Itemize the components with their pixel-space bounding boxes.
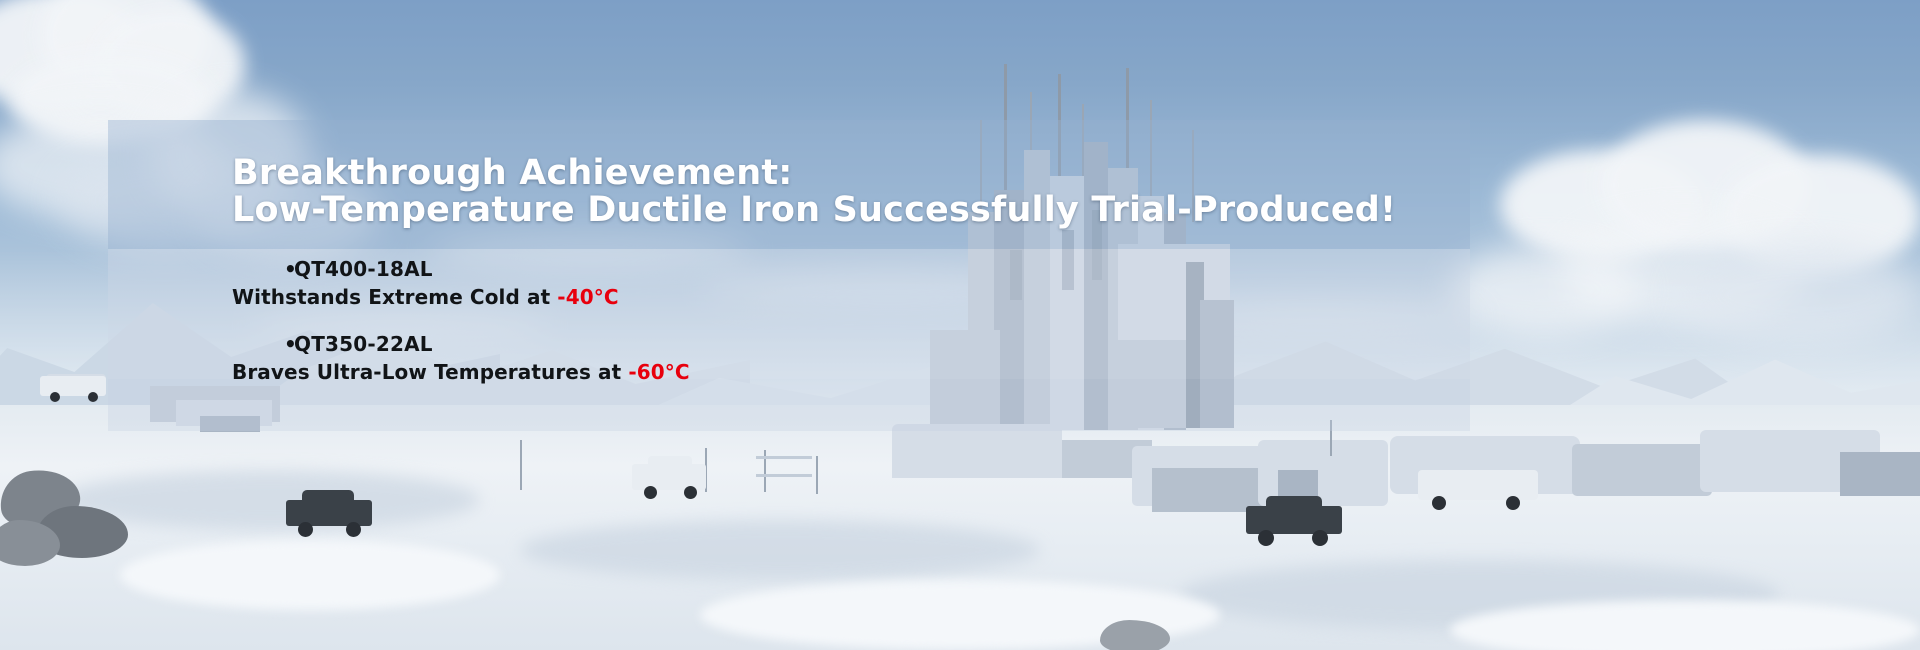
description-text: Braves Ultra-Low Temperatures at	[232, 360, 628, 384]
snow-shadow	[520, 520, 1040, 580]
bullet-icon: •	[232, 256, 294, 282]
temperature-value: -40°C	[557, 285, 618, 309]
bullet-icon: •	[232, 331, 294, 357]
wheel	[1432, 496, 1446, 510]
building	[1840, 452, 1920, 496]
headline-line-1: Breakthrough Achievement:	[232, 153, 793, 193]
vehicle	[302, 490, 354, 504]
wheel	[298, 522, 313, 537]
page-title: Breakthrough Achievement: Low-Temperatur…	[232, 155, 1472, 229]
building	[1572, 444, 1712, 496]
grade-row: • QT400-18AL	[232, 256, 1432, 282]
frame-structure	[756, 474, 812, 477]
grade-description: Braves Ultra-Low Temperatures at -60°C	[232, 357, 1432, 387]
headline-line-2: Low-Temperature Ductile Iron Successfull…	[232, 192, 1472, 229]
snow-drift	[120, 540, 500, 610]
description-text: Withstands Extreme Cold at	[232, 285, 557, 309]
snow-shadow	[60, 470, 480, 530]
feature-list: • QT400-18AL Withstands Extreme Cold at …	[232, 256, 1432, 406]
wheel	[88, 392, 98, 402]
utility-pole	[520, 440, 522, 490]
wheel	[684, 486, 697, 499]
banner-image: Breakthrough Achievement: Low-Temperatur…	[0, 0, 1920, 650]
wheel	[50, 392, 60, 402]
wheel	[644, 486, 657, 499]
wheel	[346, 522, 361, 537]
vehicle	[1246, 506, 1342, 534]
wheel	[1506, 496, 1520, 510]
list-item: • QT350-22AL Braves Ultra-Low Temperatur…	[232, 331, 1432, 387]
utility-pole	[816, 456, 818, 494]
wheel	[1312, 530, 1328, 546]
vehicle	[648, 456, 692, 468]
list-item: • QT400-18AL Withstands Extreme Cold at …	[232, 256, 1432, 312]
wheel	[1258, 530, 1274, 546]
grade-label: QT350-22AL	[294, 331, 433, 357]
temperature-value: -60°C	[628, 360, 689, 384]
frame-structure	[756, 456, 812, 459]
vehicle	[1266, 496, 1322, 510]
grade-label: QT400-18AL	[294, 256, 433, 282]
grade-description: Withstands Extreme Cold at -40°C	[232, 282, 1432, 312]
building	[892, 424, 1062, 478]
grade-row: • QT350-22AL	[232, 331, 1432, 357]
